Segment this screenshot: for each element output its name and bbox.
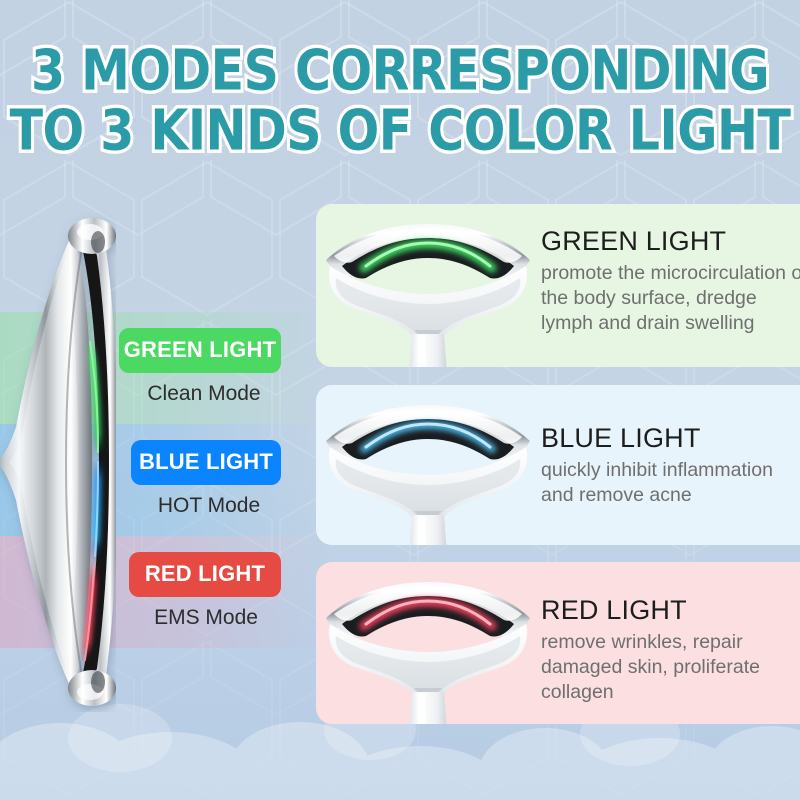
card-description-green: promote the microcirculation of the body…: [541, 261, 800, 336]
page-title: 3 MODES CORRESPONDING TO 3 KINDS OF COLO…: [0, 38, 800, 155]
mode-legend-item-green[interactable]: GREEN LIGHT Clean Mode: [119, 328, 319, 406]
device-front-image-red: [316, 562, 541, 724]
mode-pill-blue[interactable]: BLUE LIGHT: [131, 440, 281, 485]
light-mode-card-red[interactable]: RED LIGHT remove wrinkles, repair damage…: [316, 562, 800, 724]
card-title-red: RED LIGHT: [541, 595, 800, 626]
page-title-line-1: 3 MODES CORRESPONDING: [0, 38, 800, 103]
card-description-blue: quickly inhibit inflammation and remove …: [541, 458, 800, 508]
mode-legend-item-blue[interactable]: BLUE LIGHT HOT Mode: [119, 440, 319, 518]
light-mode-card-blue[interactable]: BLUE LIGHT quickly inhibit inflammation …: [316, 385, 800, 545]
card-description-red: remove wrinkles, repair damaged skin, pr…: [541, 630, 800, 705]
card-text-blue: BLUE LIGHT quickly inhibit inflammation …: [541, 385, 800, 545]
mode-pill-red[interactable]: RED LIGHT: [129, 552, 281, 597]
device-front-image-blue: [316, 385, 541, 545]
mode-sublabel-blue: HOT Mode: [124, 494, 294, 518]
mode-sublabel-red: EMS Mode: [121, 606, 291, 630]
light-mode-card-green[interactable]: GREEN LIGHT promote the microcirculation…: [316, 204, 800, 367]
card-text-green: GREEN LIGHT promote the microcirculation…: [541, 204, 800, 367]
infographic-root: 3 MODES CORRESPONDING TO 3 KINDS OF COLO…: [0, 0, 800, 800]
card-title-blue: BLUE LIGHT: [541, 423, 800, 454]
card-text-red: RED LIGHT remove wrinkles, repair damage…: [541, 562, 800, 724]
card-title-green: GREEN LIGHT: [541, 226, 800, 257]
mode-sublabel-green: Clean Mode: [119, 382, 289, 406]
device-side-view-image: [0, 212, 116, 712]
mode-pill-green[interactable]: GREEN LIGHT: [119, 328, 281, 373]
device-front-image-green: [316, 204, 541, 367]
mode-legend-list: GREEN LIGHT Clean Mode BLUE LIGHT HOT Mo…: [119, 328, 319, 630]
mode-legend-item-red[interactable]: RED LIGHT EMS Mode: [119, 552, 319, 630]
page-title-line-2: TO 3 KINDS OF COLOR LIGHT: [0, 98, 800, 163]
